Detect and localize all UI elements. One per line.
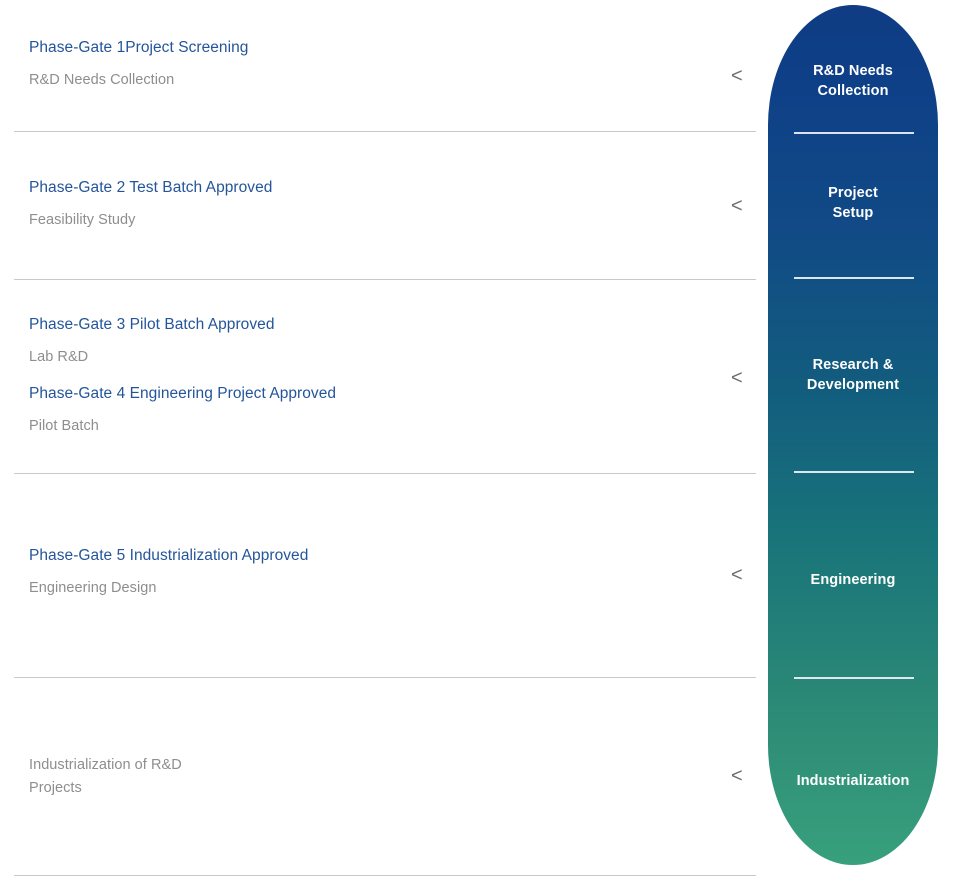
gate-block: Phase-Gate 5 Industrialization Approved … — [29, 546, 308, 598]
gate-block: Phase-Gate 3 Pilot Batch Approved Lab R&… — [29, 315, 275, 367]
stage-label-line-1: R&D Needs — [768, 61, 938, 81]
phase-gate-diagram: Phase-Gate 1Project Screening R&D Needs … — [0, 0, 970, 893]
stage-label-industrialization[interactable]: Industrialization — [768, 771, 938, 791]
gate-block: Phase-Gate 4 Engineering Project Approve… — [29, 384, 336, 436]
plain-label-block: Industrialization of R&D Projects — [29, 754, 182, 800]
collapse-chevron-icon[interactable]: < — [731, 368, 743, 388]
row-divider — [14, 875, 756, 876]
stage-divider — [794, 677, 914, 679]
table-row[interactable]: Phase-Gate 1Project Screening R&D Needs … — [0, 0, 768, 131]
table-row[interactable]: Phase-Gate 2 Test Batch Approved Feasibi… — [0, 132, 768, 280]
stage-label-line-2: Setup — [768, 203, 938, 223]
stage-label-project-setup[interactable]: Project Setup — [768, 183, 938, 223]
stage-label-rd-needs-collection[interactable]: R&D Needs Collection — [768, 61, 938, 101]
gate-block: Phase-Gate 2 Test Batch Approved Feasibi… — [29, 178, 272, 230]
collapse-chevron-icon[interactable]: < — [731, 196, 743, 216]
stage-label-line-1: Engineering — [768, 570, 938, 590]
stage-gradient-pill: R&D Needs Collection Project Setup Resea… — [768, 5, 938, 865]
stage-label-line-2: Development — [768, 375, 938, 395]
stage-label-line-1: Project — [768, 183, 938, 203]
stage-divider — [794, 471, 914, 473]
stage-label-research-development[interactable]: Research & Development — [768, 355, 938, 395]
gate-title: Phase-Gate 4 Engineering Project Approve… — [29, 384, 336, 404]
gate-subtitle: Engineering Design — [29, 578, 308, 598]
gate-title: Phase-Gate 5 Industrialization Approved — [29, 546, 308, 566]
plain-label-line-2: Projects — [29, 777, 182, 800]
gate-subtitle: Pilot Batch — [29, 416, 336, 436]
stage-label-line-2: Collection — [768, 81, 938, 101]
collapse-chevron-icon[interactable]: < — [731, 66, 743, 86]
collapse-chevron-icon[interactable]: < — [731, 565, 743, 585]
gate-title: Phase-Gate 3 Pilot Batch Approved — [29, 315, 275, 335]
table-row[interactable]: Phase-Gate 3 Pilot Batch Approved Lab R&… — [0, 280, 768, 474]
stage-label-engineering[interactable]: Engineering — [768, 570, 938, 590]
stage-label-line-1: Research & — [768, 355, 938, 375]
gate-subtitle: R&D Needs Collection — [29, 70, 248, 90]
plain-label-line-1: Industrialization of R&D — [29, 754, 182, 777]
gate-block: Phase-Gate 1Project Screening R&D Needs … — [29, 38, 248, 90]
gate-subtitle: Feasibility Study — [29, 210, 272, 230]
collapse-chevron-icon[interactable]: < — [731, 766, 743, 786]
stage-divider — [794, 277, 914, 279]
phase-gate-rows: Phase-Gate 1Project Screening R&D Needs … — [0, 0, 768, 893]
stage-divider — [794, 132, 914, 134]
gate-title: Phase-Gate 2 Test Batch Approved — [29, 178, 272, 198]
stage-label-line-1: Industrialization — [768, 771, 938, 791]
table-row[interactable]: Phase-Gate 5 Industrialization Approved … — [0, 474, 768, 678]
gate-subtitle: Lab R&D — [29, 347, 275, 367]
table-row[interactable]: Industrialization of R&D Projects < — [0, 678, 768, 876]
gate-title: Phase-Gate 1Project Screening — [29, 38, 248, 58]
